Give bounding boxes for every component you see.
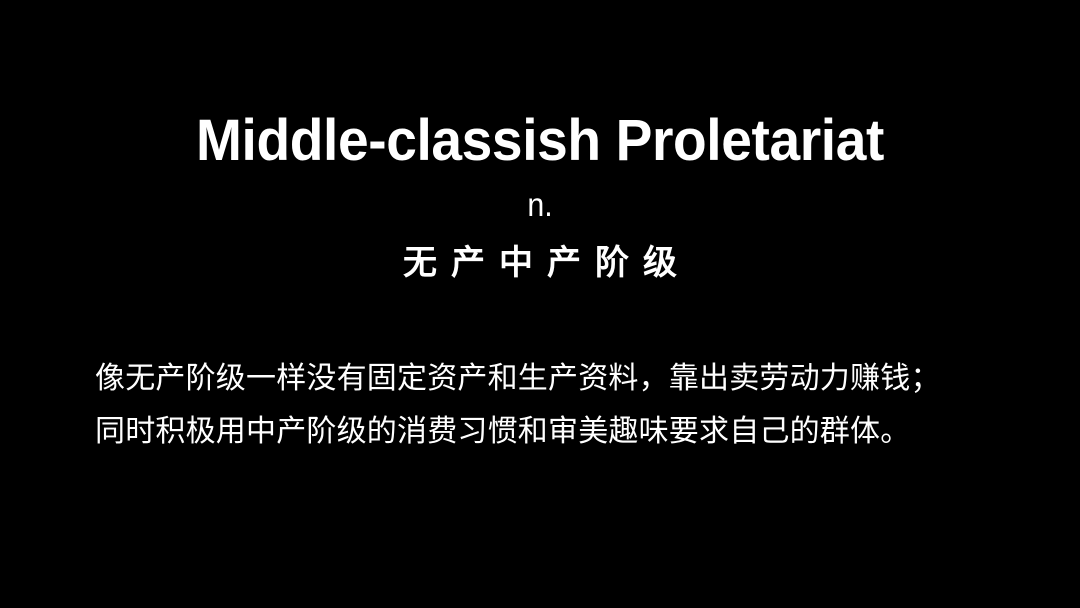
definition-line: 像无产阶级一样没有固定资产和生产资料，靠出卖劳动力赚钱； <box>95 352 995 405</box>
headword-chinese: 无产中产阶级 <box>0 242 1080 284</box>
headword-english: Middle-classish Proletariat <box>27 110 1053 172</box>
part-of-speech-marker: n. <box>43 186 1037 224</box>
definition-block: 像无产阶级一样没有固定资产和生产资料，靠出卖劳动力赚钱； 同时积极用中产阶级的消… <box>95 352 995 458</box>
dictionary-entry-slide: Middle-classish Proletariat n. 无产中产阶级 像无… <box>0 0 1080 608</box>
definition-line: 同时积极用中产阶级的消费习惯和审美趣味要求自己的群体。 <box>95 405 995 458</box>
